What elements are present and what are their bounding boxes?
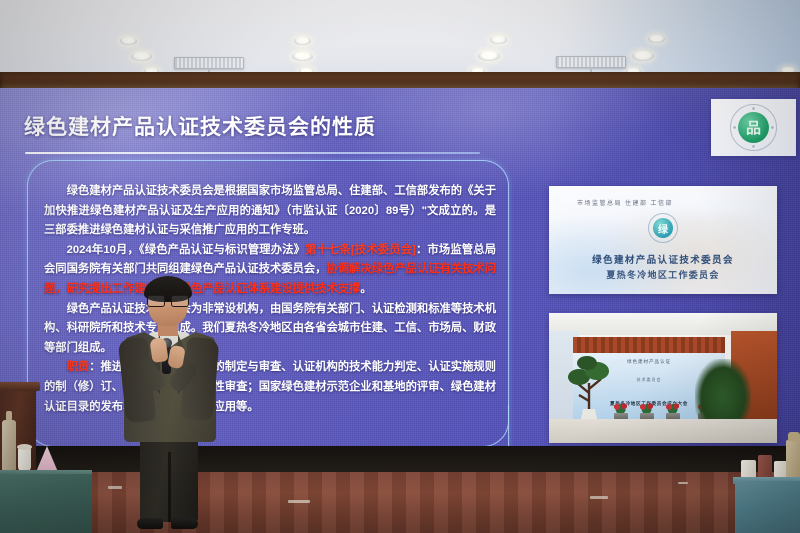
presenter-shoe-left xyxy=(137,518,163,529)
floor-debris xyxy=(288,500,310,503)
photo-cover-seal: 绿 xyxy=(648,213,678,243)
slide-paragraph-3: 绿色产品认证技术委员会为非常设机构，由国务院有关部门、认证检测和标准等技术机构、… xyxy=(44,300,496,359)
slide-paragraph-4: 职责：推进绿色建材认证标准的制定与审查、认证机构的技术能力判定、认证实施规则的制… xyxy=(44,358,496,417)
title-underline xyxy=(25,152,480,154)
photo-cover-line2: 夏热冬冷地区工作委员会 xyxy=(549,268,777,281)
paper-cup xyxy=(18,448,31,471)
run-text: 2024年10月，《绿色产品认证与标识管理办法》 xyxy=(67,244,305,256)
presenter-shoe-right xyxy=(171,518,198,529)
run-text: 。 xyxy=(360,283,371,295)
slide-body-text: 绿色建材产品认证技术委员会是根据国家市场监管总局、住建部、工信部发布的《关于加快… xyxy=(44,182,496,417)
logo-ring-ticks xyxy=(731,105,776,150)
presenter-trousers xyxy=(140,434,198,522)
logo-outer-ring: 品 xyxy=(730,104,777,151)
run-text: 绿色建材产品认证技术委员会是根据国家市场监管总局、住建部、工信部发布的《关于加快… xyxy=(44,185,496,236)
potted-tree-icon xyxy=(567,349,613,421)
slide-paragraph-2: 2024年10月，《绿色产品认证与标识管理办法》第十七条[技术委员会]：市场监管… xyxy=(44,241,496,300)
floor-debris xyxy=(678,482,688,484)
red-jar xyxy=(758,455,772,479)
floor-debris xyxy=(590,496,608,499)
slide-paragraph-1: 绿色建材产品认证技术委员会是根据国家市场监管总局、住建部、工信部发布的《关于加快… xyxy=(44,182,496,241)
run-text: 绿色产品认证技术委员会为非常设机构，由国务院有关部门、认证检测和标准等技术机构、… xyxy=(44,303,496,354)
photo-cover-header: 市场监管总局 住建部 工信部 xyxy=(577,198,673,207)
run-highlight: 第十七条[技术委员会] xyxy=(305,244,416,256)
run-highlight: 职责 xyxy=(67,361,90,373)
photo-conference-stage: 绿色建材产品认证 技术委员会 夏热冬冷地区工作委员会成立大会 xyxy=(549,313,777,443)
slide-title: 绿色建材产品认证技术委员会的性质 xyxy=(24,111,494,141)
left-table-cloth xyxy=(0,474,92,533)
brass-lantern xyxy=(786,440,800,480)
presentation-photo-scene: 绿色建材产品认证技术委员会的性质 绿色建材产品认证技术委员会是根据国家市场监管总… xyxy=(0,0,800,533)
run-text: ：推进绿色建材认证标准的制定与审查、认证机构的技术能力判定、认证实施规则的制（修… xyxy=(44,361,496,412)
photo-stage-floor xyxy=(549,419,777,443)
glass-bottle xyxy=(2,420,16,472)
certification-logo-card: 品 xyxy=(711,99,796,156)
lectern-top xyxy=(0,382,40,391)
photo-committee-cover-card: 市场监管总局 住建部 工信部 绿 绿色建材产品认证技术委员会 夏热冬冷地区工作委… xyxy=(549,186,777,294)
large-foliage-plant xyxy=(695,359,751,423)
seal-glyph: 绿 xyxy=(653,218,673,238)
right-table-cloth xyxy=(735,481,800,533)
presenter xyxy=(118,280,222,533)
glasses-icon xyxy=(146,295,190,305)
photo-cover-line1: 绿色建材产品认证技术委员会 xyxy=(549,252,777,266)
